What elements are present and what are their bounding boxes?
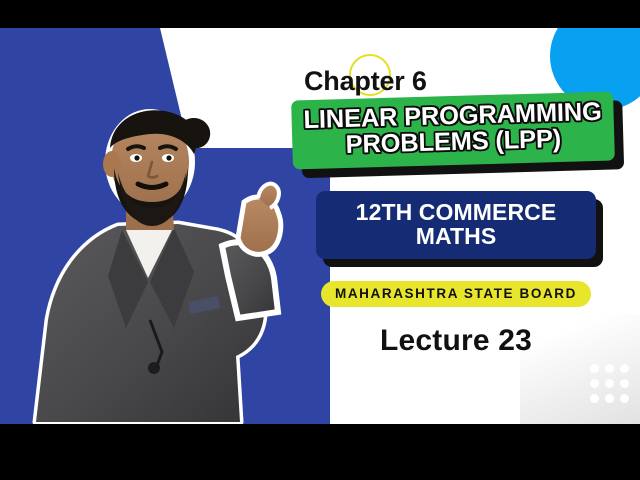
- course-title-box: LINEAR PROGRAMMING PROBLEMS (LPP): [291, 92, 615, 169]
- presenter-photo: [22, 106, 284, 424]
- dot: [590, 379, 599, 388]
- board-badge: MAHARASHTRA STATE BOARD: [321, 281, 591, 307]
- chapter-label: Chapter 6: [304, 68, 622, 95]
- dot-grid-icon: [587, 361, 632, 406]
- thumbnail-canvas: Chapter 6 LINEAR PROGRAMMING PROBLEMS (L…: [0, 28, 640, 424]
- dot: [590, 364, 599, 373]
- presenter-figure-icon: [22, 106, 284, 424]
- video-thumbnail: Chapter 6 LINEAR PROGRAMMING PROBLEMS (L…: [0, 0, 640, 480]
- lecture-label: Lecture 23: [290, 324, 622, 358]
- dot: [620, 394, 629, 403]
- dot: [605, 379, 614, 388]
- dot: [590, 394, 599, 403]
- title-column: Chapter 6 LINEAR PROGRAMMING PROBLEMS (L…: [290, 68, 622, 358]
- subject-box: 12TH COMMERCE MATHS: [316, 191, 596, 260]
- subject-line-2: MATHS: [326, 224, 586, 248]
- dot: [605, 364, 614, 373]
- dot: [605, 394, 614, 403]
- dot: [620, 379, 629, 388]
- dot: [620, 364, 629, 373]
- subject-line-1: 12TH COMMERCE: [326, 200, 586, 224]
